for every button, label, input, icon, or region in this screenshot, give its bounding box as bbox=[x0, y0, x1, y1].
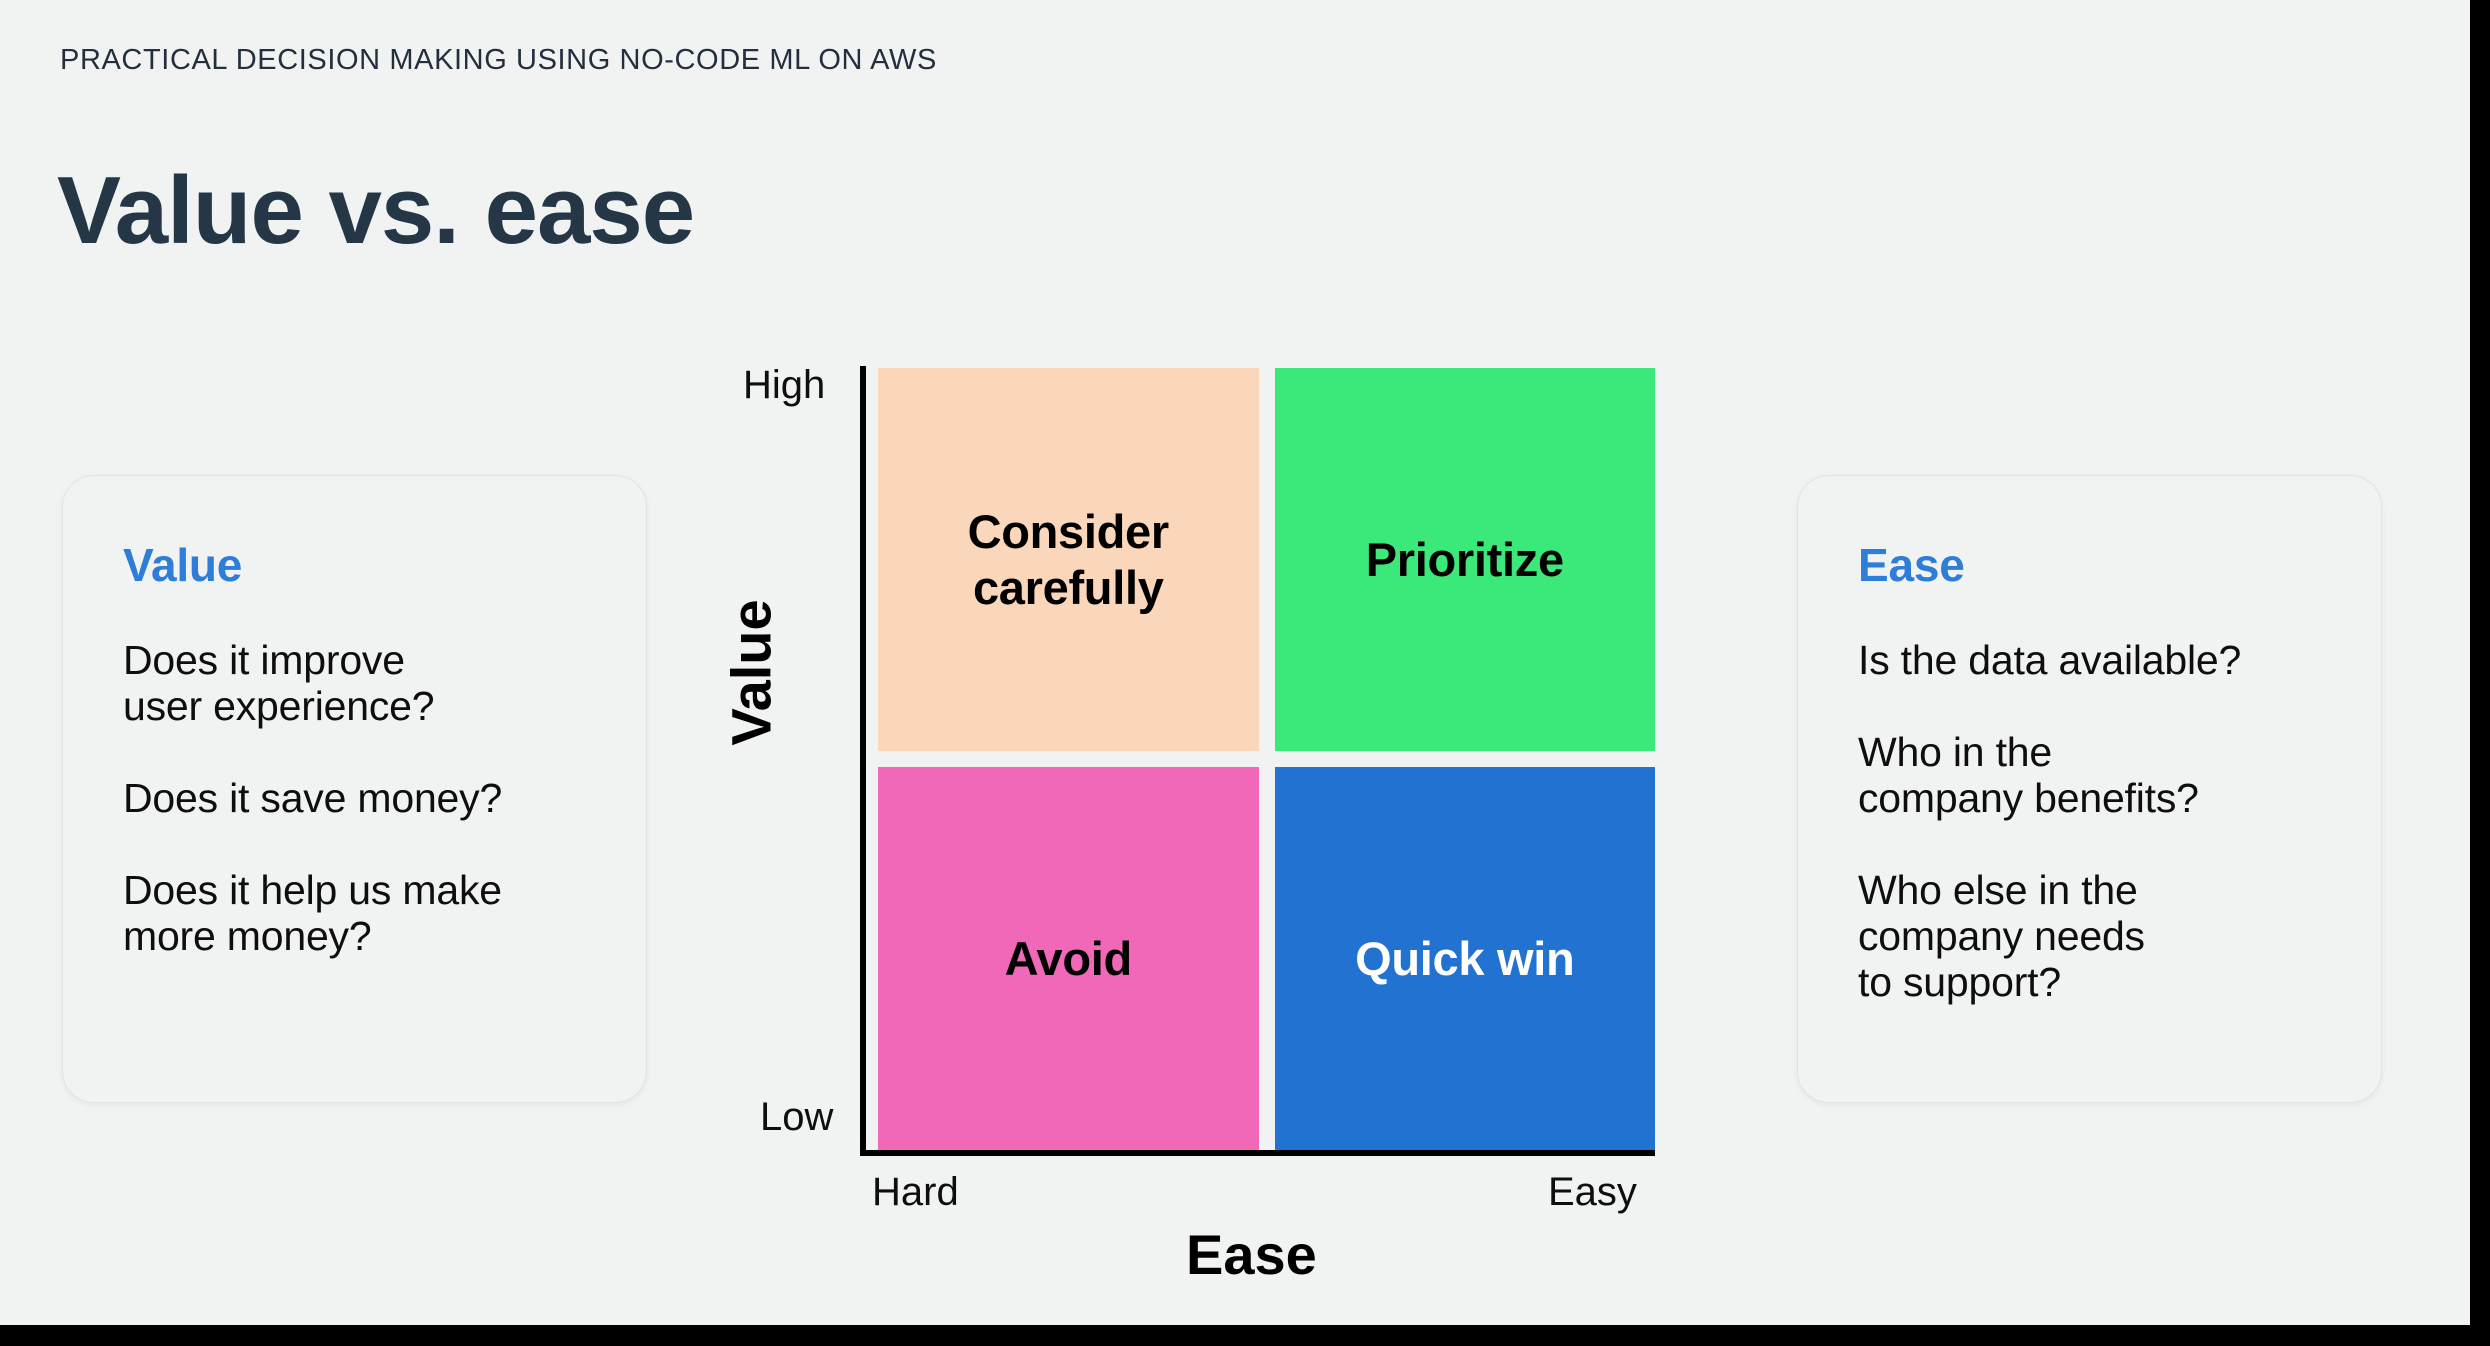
ease-card-list: Is the data available? Who in the compan… bbox=[1858, 638, 2353, 1005]
quadrant-avoid: Avoid bbox=[878, 767, 1259, 1150]
quadrant-consider-carefully: Consider carefully bbox=[878, 368, 1259, 751]
y-axis-title: Value bbox=[719, 599, 784, 745]
list-item: Is the data available? bbox=[1858, 638, 2353, 684]
x-axis-line bbox=[860, 1150, 1655, 1156]
y-axis-tick-low: Low bbox=[760, 1095, 833, 1140]
slide-eyebrow: PRACTICAL DECISION MAKING USING NO-CODE … bbox=[60, 44, 937, 77]
ease-card-heading: Ease bbox=[1858, 538, 1965, 592]
value-ease-matrix: Consider carefully Prioritize Avoid Quic… bbox=[860, 366, 1655, 1156]
x-axis-tick-hard: Hard bbox=[872, 1170, 959, 1215]
list-item: Does it help us make more money? bbox=[123, 868, 618, 960]
x-axis-tick-easy: Easy bbox=[1548, 1170, 1637, 1215]
y-axis-line bbox=[860, 366, 866, 1156]
quadrant-prioritize: Prioritize bbox=[1275, 368, 1656, 751]
right-black-bar bbox=[2470, 0, 2490, 1346]
x-axis-title: Ease bbox=[1186, 1222, 1317, 1287]
value-card: Value Does it improve user experience? D… bbox=[62, 475, 647, 1103]
list-item: Who in the company benefits? bbox=[1858, 730, 2353, 822]
ease-card: Ease Is the data available? Who in the c… bbox=[1797, 475, 2382, 1103]
list-item: Does it save money? bbox=[123, 776, 618, 822]
y-axis-tick-high: High bbox=[743, 363, 825, 408]
list-item: Does it improve user experience? bbox=[123, 638, 618, 730]
value-card-heading: Value bbox=[123, 538, 242, 592]
page-title: Value vs. ease bbox=[57, 163, 694, 259]
bottom-black-bar bbox=[0, 1325, 2490, 1346]
value-card-list: Does it improve user experience? Does it… bbox=[123, 638, 618, 960]
quadrant-quick-win: Quick win bbox=[1275, 767, 1656, 1150]
list-item: Who else in the company needs to support… bbox=[1858, 868, 2353, 1006]
slide-canvas: PRACTICAL DECISION MAKING USING NO-CODE … bbox=[0, 0, 2470, 1325]
quadrant-grid: Consider carefully Prioritize Avoid Quic… bbox=[878, 368, 1655, 1150]
